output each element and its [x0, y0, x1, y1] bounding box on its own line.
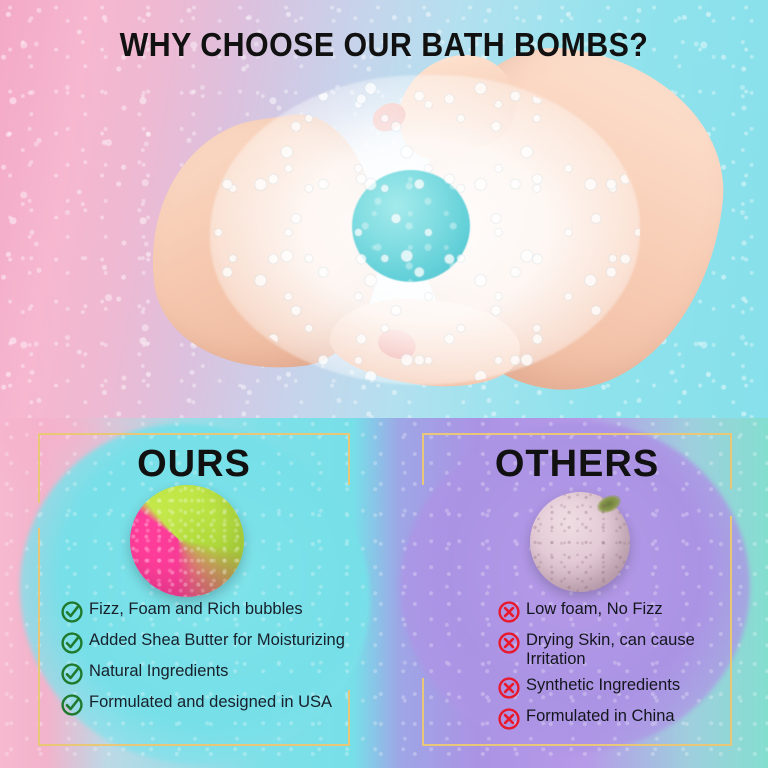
list-item: Formulated in China [497, 707, 729, 731]
list-item: Synthetic Ingredients [497, 676, 729, 700]
green-check-icon [60, 600, 84, 624]
list-item: Drying Skin, can cause Irritation [497, 631, 729, 669]
green-check-icon [60, 693, 84, 717]
list-item-label: Low foam, No Fizz [526, 600, 663, 619]
green-check-icon [60, 631, 84, 655]
list-item-label: Fizz, Foam and Rich bubbles [89, 600, 303, 619]
list-item-label: Synthetic Ingredients [526, 676, 680, 695]
red-x-icon [497, 631, 521, 655]
green-check-icon [60, 662, 84, 686]
others-product-image [530, 492, 630, 592]
others-feature-list: Low foam, No Fizz Drying Skin, can cause… [497, 600, 729, 738]
foam-bubbles [210, 75, 640, 385]
ours-heading: OURS [38, 443, 350, 486]
list-item: Natural Ingredients [60, 662, 352, 686]
product-comparison-infographic: WHY CHOOSE OUR BATH BOMBS? OURS OTHERS [0, 0, 768, 768]
list-item: Fizz, Foam and Rich bubbles [60, 600, 352, 624]
ours-feature-list: Fizz, Foam and Rich bubbles Added Shea B… [60, 600, 352, 724]
red-x-icon [497, 707, 521, 731]
list-item-label: Natural Ingredients [89, 662, 228, 681]
red-x-icon [497, 676, 521, 700]
list-item: Low foam, No Fizz [497, 600, 729, 624]
hero-photo [0, 0, 768, 430]
list-item-label: Drying Skin, can cause Irritation [526, 631, 729, 669]
list-item-label: Formulated in China [526, 707, 675, 726]
list-item-label: Formulated and designed in USA [89, 693, 332, 712]
ours-product-image [130, 485, 244, 597]
others-heading: OTHERS [422, 443, 732, 486]
list-item-label: Added Shea Butter for Moisturizing [89, 631, 345, 650]
list-item: Added Shea Butter for Moisturizing [60, 631, 352, 655]
red-x-icon [497, 600, 521, 624]
page-title: WHY CHOOSE OUR BATH BOMBS? [31, 26, 738, 64]
list-item: Formulated and designed in USA [60, 693, 352, 717]
